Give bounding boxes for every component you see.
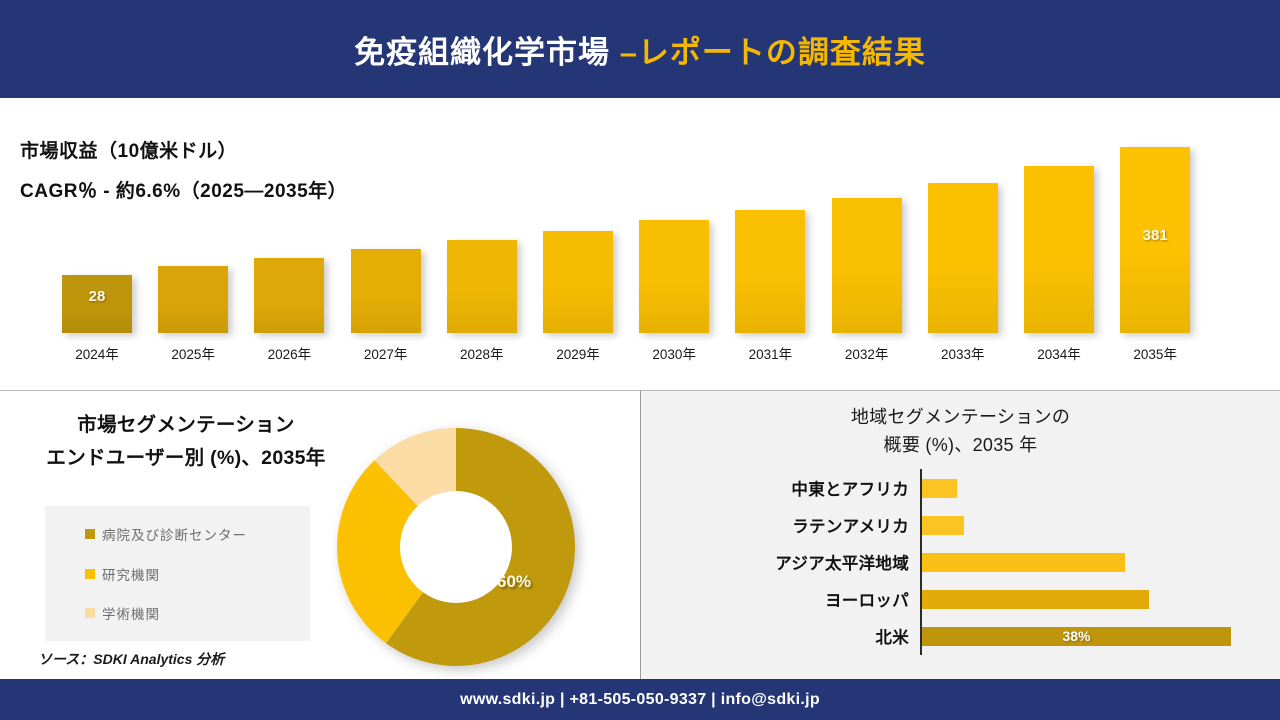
bar-column[interactable]: 2030年 <box>639 220 709 333</box>
revenue-chart-panel: 市場収益（10億米ドル） CAGR％ - 約6.6%（2025―2035年） 2… <box>0 98 1280 390</box>
regional-panel: 地域セグメンテーションの 概要 (%)、2035 年 中東とアフリカラテンアメリ… <box>641 391 1280 679</box>
regional-bar[interactable] <box>922 516 964 535</box>
page-title-sub: –レポートの調査結果 <box>620 35 926 70</box>
legend-swatch-icon <box>85 569 95 579</box>
bar-category-label: 2034年 <box>1024 343 1094 363</box>
revenue-bar[interactable] <box>735 210 805 333</box>
bar-category-label: 2031年 <box>735 343 805 363</box>
revenue-bar[interactable] <box>254 258 324 333</box>
regional-row[interactable]: 中東とアフリカ <box>641 471 1280 505</box>
page-title-main: 免疫組織化学市場 <box>354 35 620 70</box>
regional-row[interactable]: ヨーロッパ <box>641 582 1280 616</box>
bar-value-label: 381 <box>1120 227 1190 244</box>
page-header: 免疫組織化学市場 –レポートの調査結果 <box>0 0 1280 98</box>
bar-column[interactable]: 282024年 <box>62 275 132 333</box>
segmentation-donut-chart <box>337 428 575 666</box>
footer-contact[interactable]: www.sdki.jp | +81-505-050-9337 | info@sd… <box>460 691 820 709</box>
regional-title-line2: 概要 (%)、2035 年 <box>641 431 1280 459</box>
bar-category-label: 2032年 <box>832 343 902 363</box>
revenue-bar[interactable] <box>158 266 228 333</box>
segmentation-panel: 市場セグメンテーション エンドユーザー別 (%)、2035年 病院及び診断センタ… <box>0 391 640 679</box>
bar-category-label: 2024年 <box>62 343 132 363</box>
segmentation-legend: 病院及び診断センター 研究機関 学術機関 <box>45 506 310 641</box>
legend-swatch-icon <box>85 608 95 618</box>
bar-category-label: 2028年 <box>447 343 517 363</box>
regional-category-label: 北米 <box>875 624 909 648</box>
legend-swatch-icon <box>85 529 95 539</box>
bar-category-label: 2026年 <box>254 343 324 363</box>
donut-value-label: 60% <box>497 572 531 592</box>
regional-title-line1: 地域セグメンテーションの <box>641 403 1280 431</box>
page-footer: www.sdki.jp | +81-505-050-9337 | info@sd… <box>0 679 1280 720</box>
revenue-bar[interactable] <box>543 231 613 333</box>
revenue-bar[interactable] <box>1024 166 1094 333</box>
revenue-bar[interactable] <box>928 183 998 333</box>
page-title: 免疫組織化学市場 –レポートの調査結果 <box>354 27 926 72</box>
regional-title: 地域セグメンテーションの 概要 (%)、2035 年 <box>641 403 1280 459</box>
bar-column[interactable]: 2028年 <box>447 240 517 333</box>
legend-item-research[interactable]: 研究機関 <box>85 564 160 584</box>
bar-column[interactable]: 2032年 <box>832 198 902 333</box>
revenue-bar[interactable] <box>832 198 902 333</box>
revenue-bar[interactable] <box>639 220 709 333</box>
donut-hole <box>400 491 512 603</box>
bar-column[interactable]: 3812035年 <box>1120 147 1190 333</box>
bar-category-label: 2033年 <box>928 343 998 363</box>
revenue-bar-chart: 282024年2025年2026年2027年2028年2029年2030年203… <box>0 98 1280 390</box>
bar-column[interactable]: 2034年 <box>1024 166 1094 333</box>
donut-svg <box>337 428 575 666</box>
bar-value-label: 28 <box>62 288 132 305</box>
regional-category-label: 中東とアフリカ <box>791 476 909 500</box>
revenue-bar[interactable] <box>351 249 421 333</box>
regional-category-label: ラテンアメリカ <box>792 513 909 537</box>
bar-column[interactable]: 2026年 <box>254 258 324 333</box>
bar-column[interactable]: 2033年 <box>928 183 998 333</box>
regional-category-label: アジア太平洋地域 <box>775 550 909 574</box>
bar-category-label: 2029年 <box>543 343 613 363</box>
bar-column[interactable]: 2025年 <box>158 266 228 333</box>
regional-row[interactable]: アジア太平洋地域 <box>641 545 1280 579</box>
regional-bar-value-label: 38% <box>922 627 1231 646</box>
regional-bar[interactable] <box>922 479 957 498</box>
legend-label: 研究機関 <box>102 564 160 584</box>
bar-column[interactable]: 2029年 <box>543 231 613 333</box>
bar-category-label: 2027年 <box>351 343 421 363</box>
legend-label: 学術機関 <box>102 603 160 623</box>
regional-row[interactable]: 北米38% <box>641 619 1280 653</box>
segmentation-title-line1: 市場セグメンテーション <box>36 409 336 442</box>
bar-column[interactable]: 2027年 <box>351 249 421 333</box>
bar-category-label: 2025年 <box>158 343 228 363</box>
bar-category-label: 2030年 <box>639 343 709 363</box>
bar-category-label: 2035年 <box>1120 343 1190 363</box>
regional-row[interactable]: ラテンアメリカ <box>641 508 1280 542</box>
revenue-bar[interactable] <box>447 240 517 333</box>
regional-bar[interactable] <box>922 553 1125 572</box>
legend-label: 病院及び診断センター <box>102 524 247 544</box>
regional-category-label: ヨーロッパ <box>825 587 909 611</box>
regional-bar[interactable]: 38% <box>922 627 1231 646</box>
segmentation-title-line2: エンドユーザー別 (%)、2035年 <box>36 442 336 475</box>
bar-column[interactable]: 2031年 <box>735 210 805 333</box>
legend-item-hospitals[interactable]: 病院及び診断センター <box>85 524 247 544</box>
regional-bar[interactable] <box>922 590 1149 609</box>
legend-item-academic[interactable]: 学術機関 <box>85 603 160 623</box>
source-note: ソース：SDKI Analytics 分析 <box>38 649 224 669</box>
segmentation-title: 市場セグメンテーション エンドユーザー別 (%)、2035年 <box>36 409 336 475</box>
